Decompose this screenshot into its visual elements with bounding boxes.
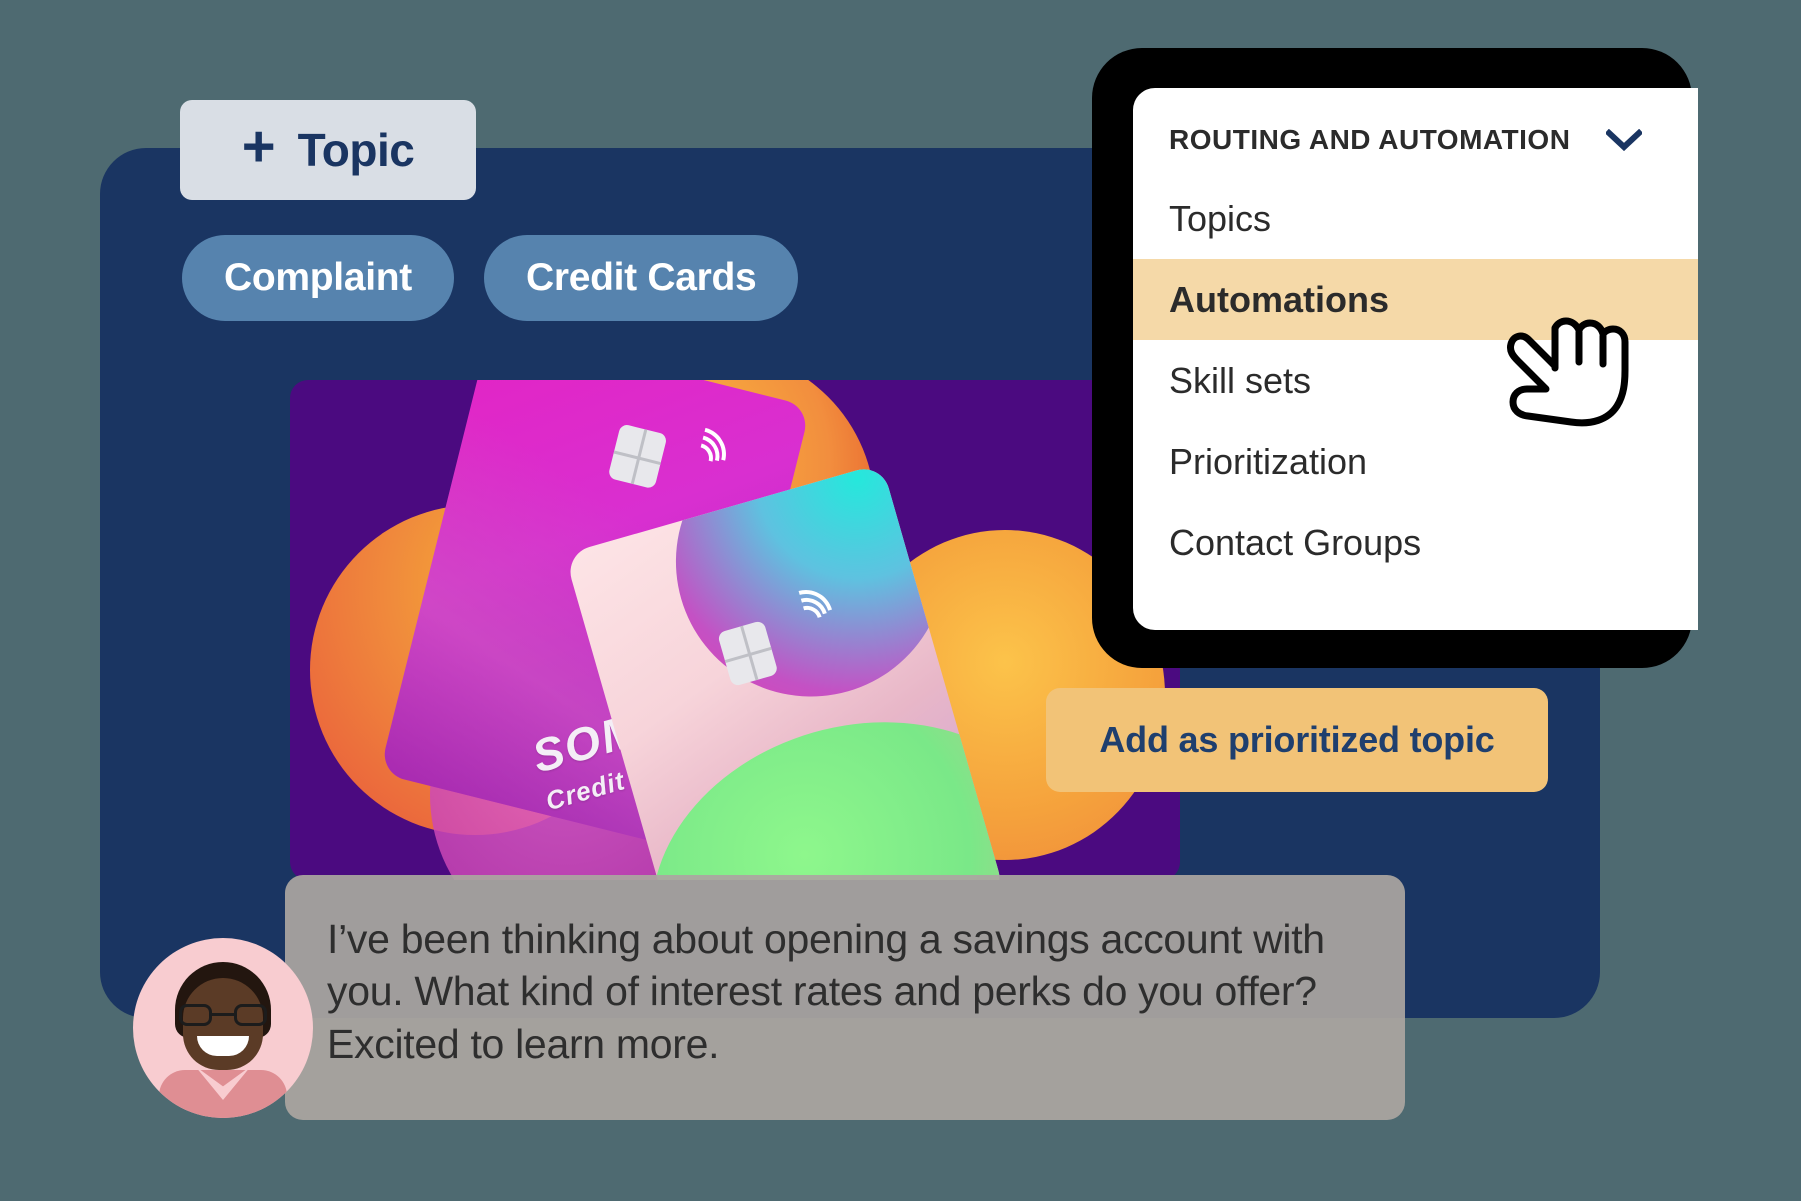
add-as-prioritized-topic-label: Add as prioritized topic [1099,719,1494,761]
menu-item-label: Prioritization [1169,441,1367,483]
dropdown-title: ROUTING AND AUTOMATION [1169,124,1570,156]
dropdown-header[interactable]: ROUTING AND AUTOMATION [1133,88,1698,178]
topic-tag-credit-cards[interactable]: Credit Cards [484,235,798,321]
pointing-hand-cursor-icon [1505,310,1640,450]
avatar-glasses-icon [179,1004,267,1026]
plus-icon: + [242,118,276,176]
credit-cards-illustration: SOMOS Credit [290,380,1180,880]
topic-tag-complaint[interactable]: Complaint [182,235,454,321]
credit-card-front-gradient-green [611,675,1005,880]
customer-message-bubble: I’ve been thinking about opening a savin… [285,875,1405,1120]
chevron-down-icon[interactable] [1606,129,1642,151]
topic-tag-label: Complaint [224,256,412,300]
menu-item-label: Skill sets [1169,360,1311,402]
canvas: SOMOS Credit + Topic Complaint Credit Ca… [0,0,1801,1201]
menu-item-topics[interactable]: Topics [1133,178,1698,259]
menu-item-label: Automations [1169,279,1389,321]
add-topic-label: Topic [298,127,415,173]
avatar [133,938,313,1118]
menu-item-contact-groups[interactable]: Contact Groups [1133,502,1698,583]
menu-item-label: Contact Groups [1169,522,1421,564]
add-topic-button[interactable]: + Topic [180,100,476,200]
add-as-prioritized-topic-button[interactable]: Add as prioritized topic [1046,688,1548,792]
menu-item-label: Topics [1169,198,1271,240]
customer-message-text: I’ve been thinking about opening a savin… [327,913,1357,1070]
topic-tag-list: Complaint Credit Cards [182,235,798,321]
topic-tag-label: Credit Cards [526,256,756,300]
